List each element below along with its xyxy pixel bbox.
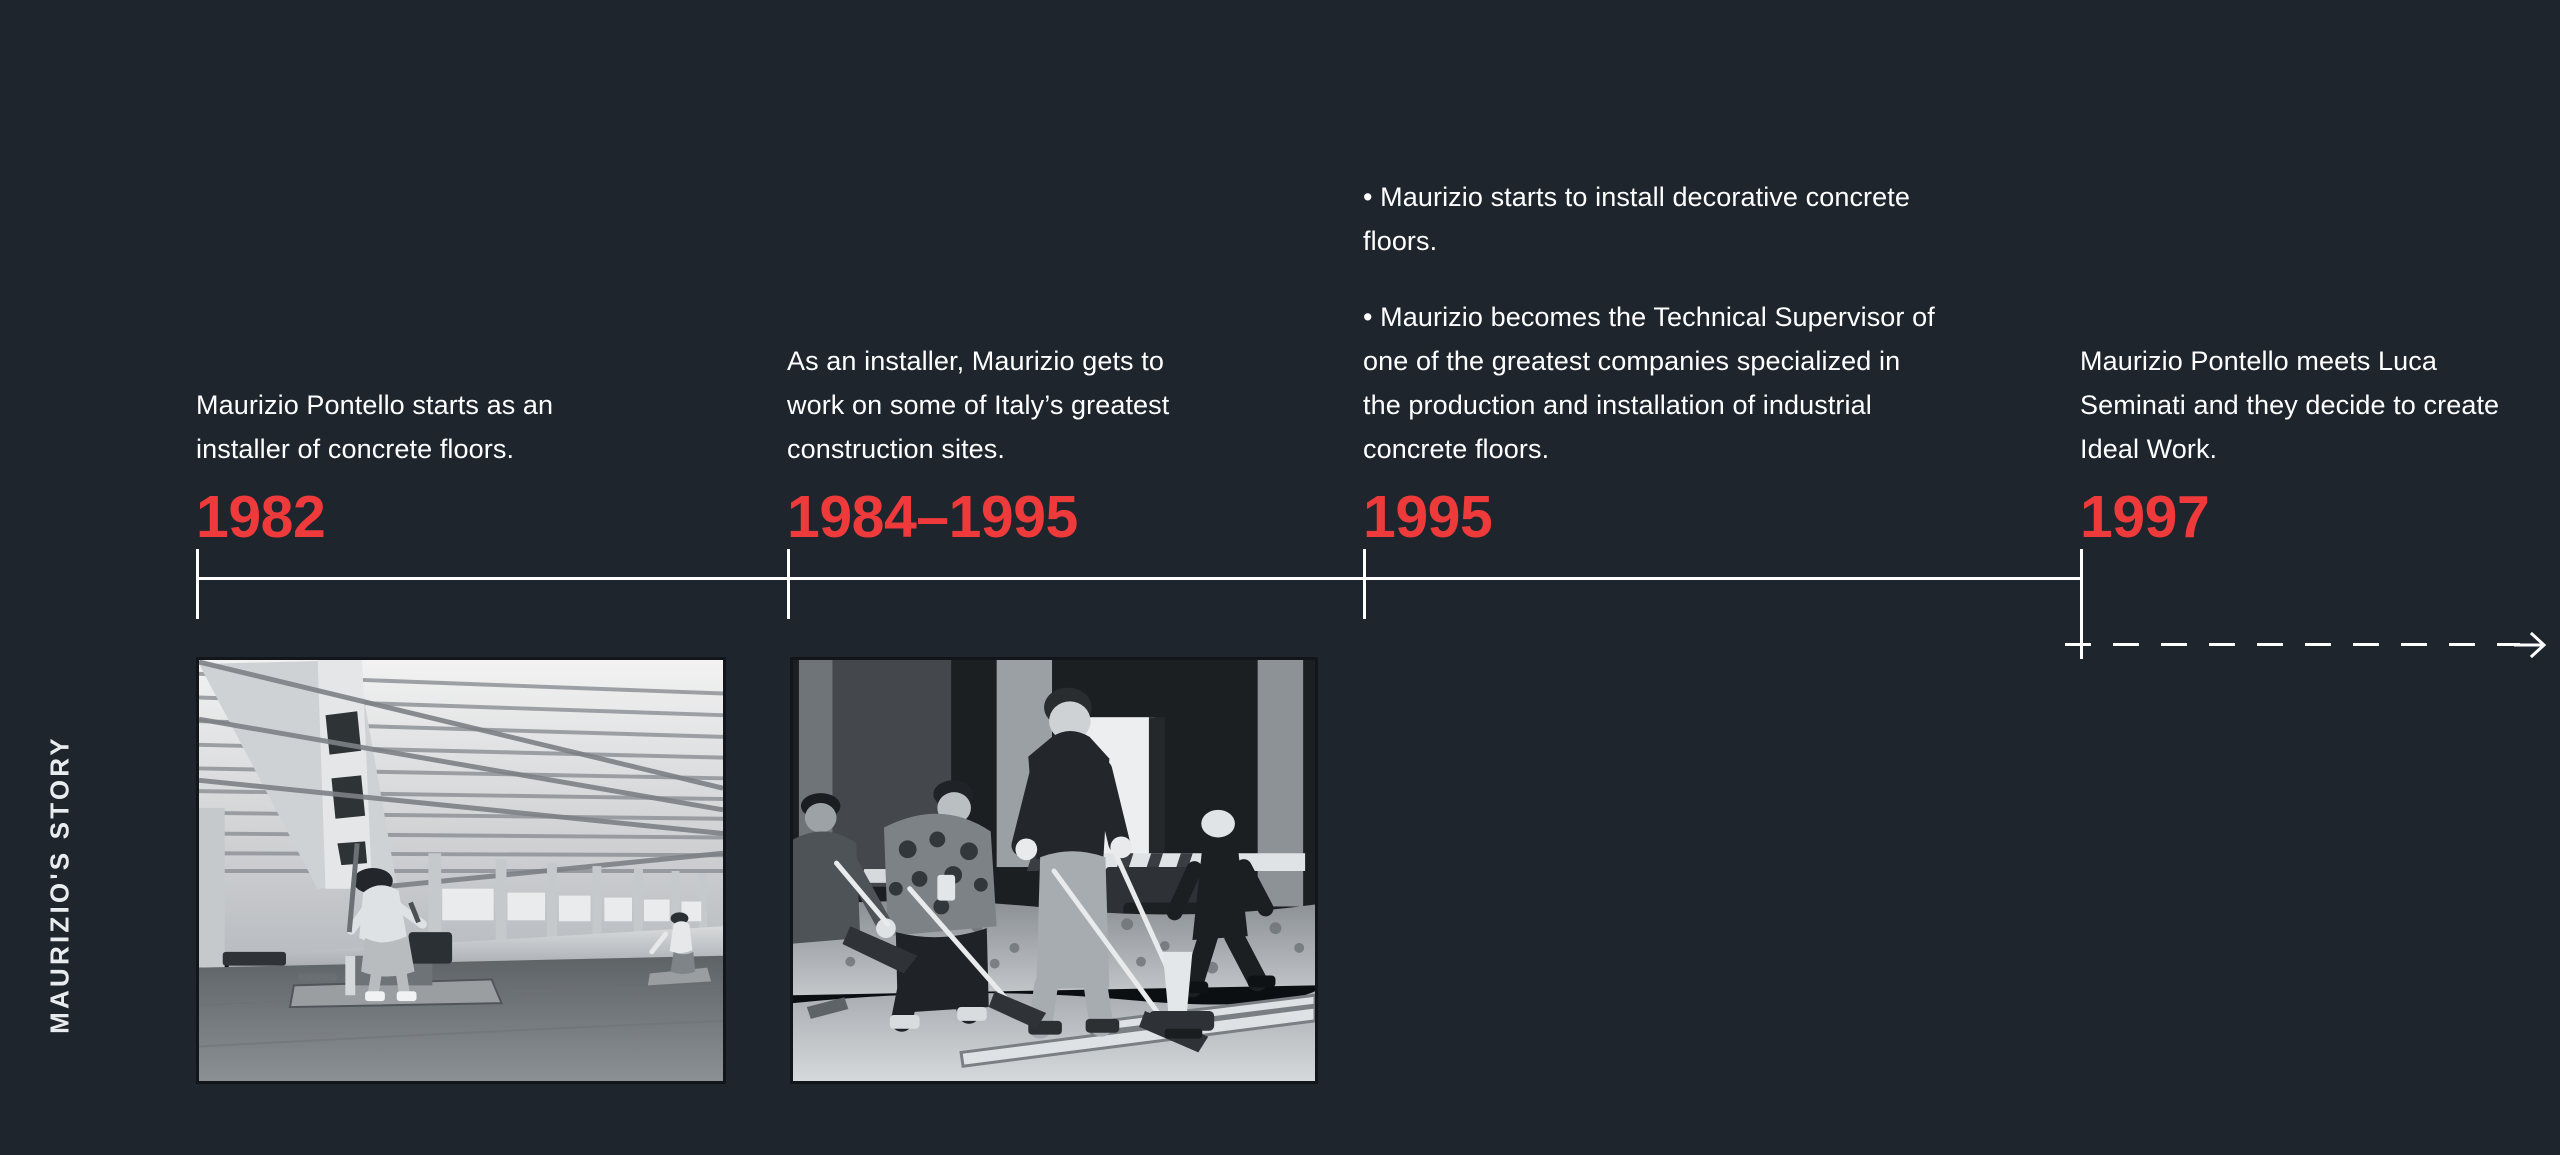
entry-paragraph: • Maurizio starts to install decorative … — [1363, 175, 1943, 263]
entry-year-1995: 1995 — [1363, 485, 1943, 549]
timeline-entry-1982: Maurizio Pontello starts as an installer… — [196, 383, 626, 549]
entry-paragraph: Maurizio Pontello meets Luca Seminati an… — [2080, 339, 2500, 471]
timeline: Maurizio Pontello starts as an installer… — [0, 0, 2560, 1155]
timeline-tick-1982 — [196, 549, 199, 619]
entry-paragraph: As an installer, Maurizio gets to work o… — [787, 339, 1187, 471]
timeline-entry-1984-1995: As an installer, Maurizio gets to work o… — [787, 339, 1187, 549]
entry-body-1984-1995: As an installer, Maurizio gets to work o… — [787, 339, 1187, 471]
timeline-tick-1984-1995 — [787, 549, 790, 619]
timeline-entry-1997: Maurizio Pontello meets Luca Seminati an… — [2080, 339, 2500, 549]
entry-year-1984-1995: 1984–1995 — [787, 485, 1187, 549]
timeline-tick-1995 — [1363, 549, 1366, 619]
entry-body-1982: Maurizio Pontello starts as an installer… — [196, 383, 626, 471]
timeline-photo-1982 — [196, 657, 726, 1084]
timeline-photo-1984-1995 — [790, 657, 1318, 1084]
timeline-dashed-continuation — [2065, 643, 2520, 646]
entry-year-1982: 1982 — [196, 485, 626, 549]
timeline-entry-1995: • Maurizio starts to install decorative … — [1363, 175, 1943, 549]
timeline-axis-line — [196, 577, 2082, 580]
entry-paragraph: • Maurizio becomes the Technical Supervi… — [1363, 295, 1943, 471]
entry-body-1997: Maurizio Pontello meets Luca Seminati an… — [2080, 339, 2500, 471]
arrow-right-icon — [2512, 628, 2548, 662]
entry-paragraph: Maurizio Pontello starts as an installer… — [196, 383, 626, 471]
entry-body-1995: • Maurizio starts to install decorative … — [1363, 175, 1943, 471]
entry-year-1997: 1997 — [2080, 485, 2500, 549]
